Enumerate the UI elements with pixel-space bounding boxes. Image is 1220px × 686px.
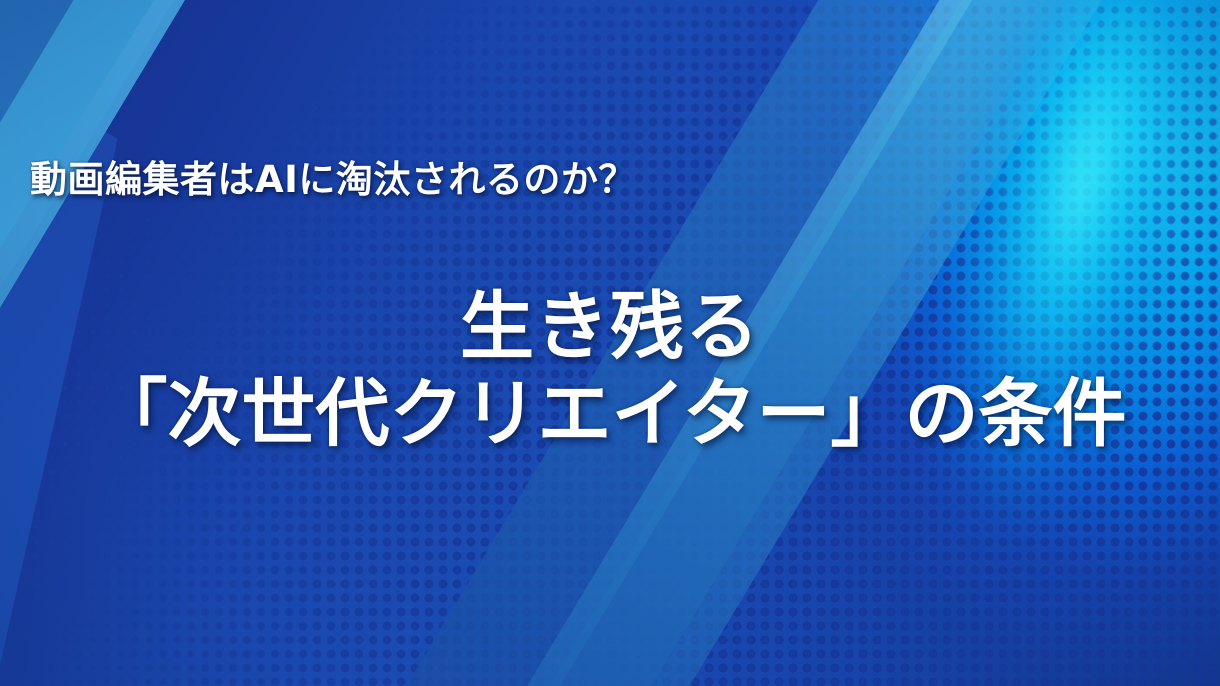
text-block: 動画編集者はAIに淘汰されるのか？ 生き残る 「次世代クリエイター」の条件: [0, 0, 1220, 686]
title-slide: 動画編集者はAIに淘汰されるのか？ 生き残る 「次世代クリエイター」の条件: [0, 0, 1220, 686]
slide-title-line-1: 生き残る: [0, 284, 1220, 371]
slide-title: 生き残る 「次世代クリエイター」の条件: [0, 284, 1220, 459]
slide-subtitle: 動画編集者はAIに淘汰されるのか？: [30, 160, 636, 201]
slide-title-line-2: 「次世代クリエイター」の条件: [0, 371, 1220, 458]
